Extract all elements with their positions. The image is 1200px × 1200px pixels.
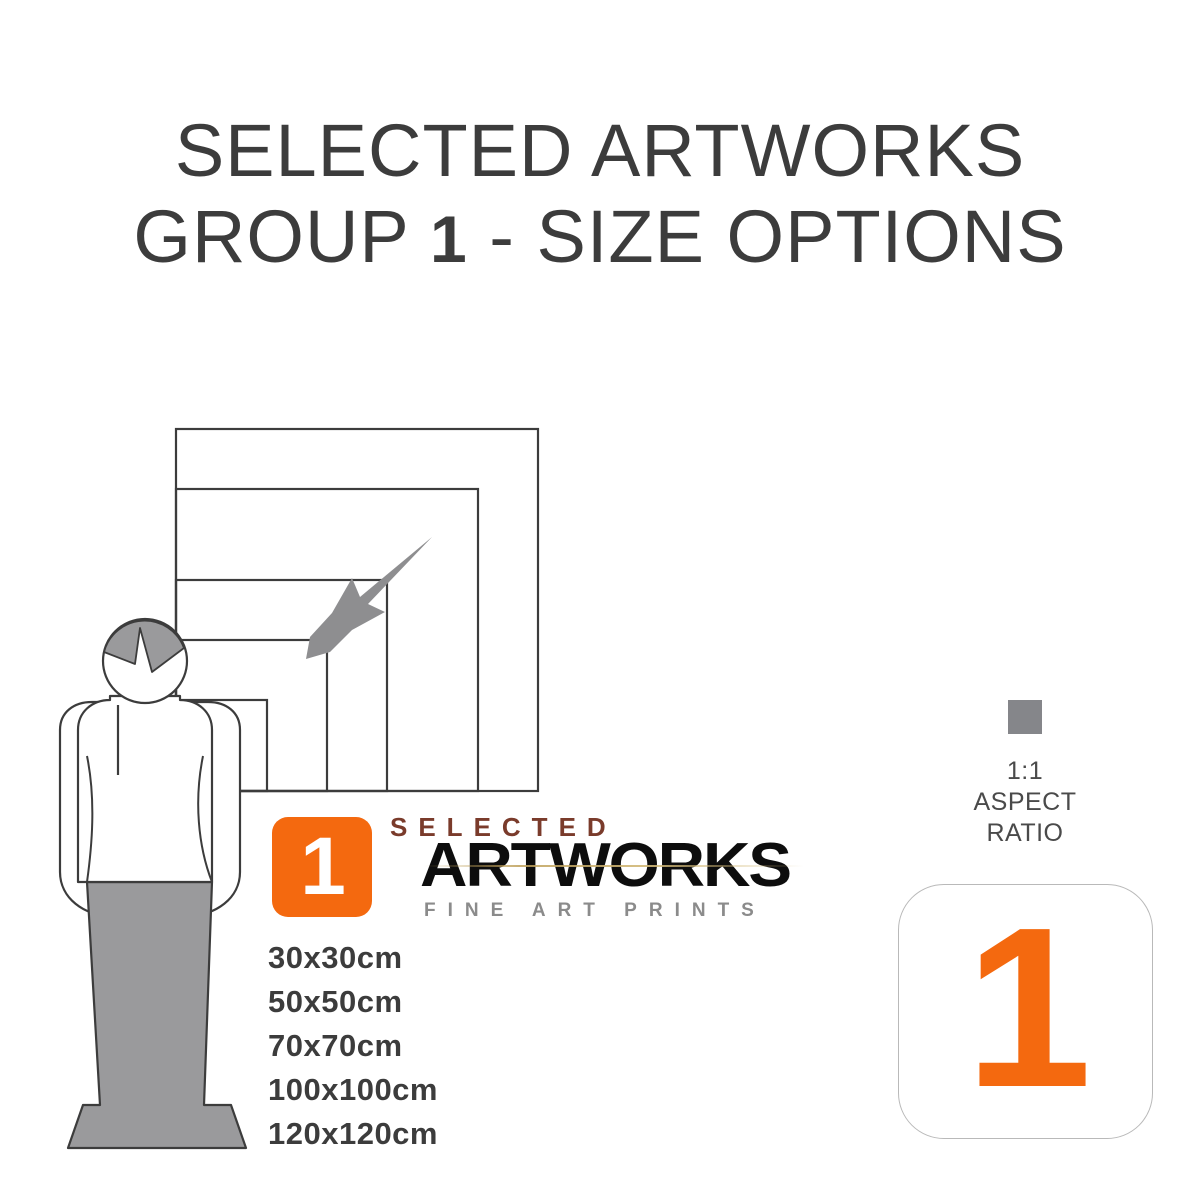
size-option-item: 30x30cm [268, 936, 688, 980]
title-group-number: 1 [430, 202, 468, 276]
person-shirt-seam-right [198, 756, 212, 882]
size-option-item: 50x50cm [268, 980, 688, 1024]
person-lower-body [68, 882, 246, 1148]
person-shirt-seam-left [87, 756, 92, 882]
size-square-50 [176, 640, 327, 791]
title-line-1: SELECTED ARTWORKS [0, 108, 1200, 194]
size-square-120 [176, 429, 538, 791]
size-option-item: 70x70cm [268, 1024, 688, 1068]
person-head [103, 619, 187, 703]
group-badge: 1 [272, 817, 372, 917]
logo-strike-decoration [424, 865, 804, 867]
person-hair [104, 621, 184, 672]
aspect-ratio-label-2: RATIO [930, 818, 1120, 849]
page-title: SELECTED ARTWORKS GROUP 1 - SIZE OPTIONS [0, 108, 1200, 282]
size-option-item: 100x100cm [268, 1068, 688, 1112]
aspect-ratio-block: 1:1 ASPECT RATIO [930, 700, 1120, 849]
person-torso [78, 696, 212, 882]
logo-tagline: FINE ART PRINTS [424, 900, 766, 922]
artworks-logo: SELECTED ARTWORKS FINE ART PRINTS [384, 810, 830, 926]
size-square-70 [176, 580, 387, 791]
aspect-ratio-swatch-icon [1008, 700, 1042, 734]
growth-arrow-icon [306, 537, 432, 659]
person-right-arm [186, 702, 240, 916]
brand-logo-row: 1 SELECTED ARTWORKS FINE ART PRINTS [272, 810, 832, 930]
person-left-arm [60, 702, 112, 916]
size-square-100 [176, 489, 478, 791]
size-options-list: 30x30cm 50x50cm 70x70cm 100x100cm 120x12… [268, 936, 688, 1156]
size-option-item: 120x120cm [268, 1112, 688, 1156]
aspect-ratio-value: 1:1 [930, 756, 1120, 787]
aspect-ratio-label-1: ASPECT [930, 787, 1120, 818]
title-line-2: GROUP 1 - SIZE OPTIONS [0, 194, 1200, 282]
size-square-30 [176, 700, 267, 791]
group-number-value: 1 [899, 885, 1152, 1138]
title-group-suffix: - SIZE OPTIONS [468, 195, 1067, 278]
title-group-prefix: GROUP [133, 195, 430, 278]
group-number-tile: 1 [898, 884, 1153, 1139]
